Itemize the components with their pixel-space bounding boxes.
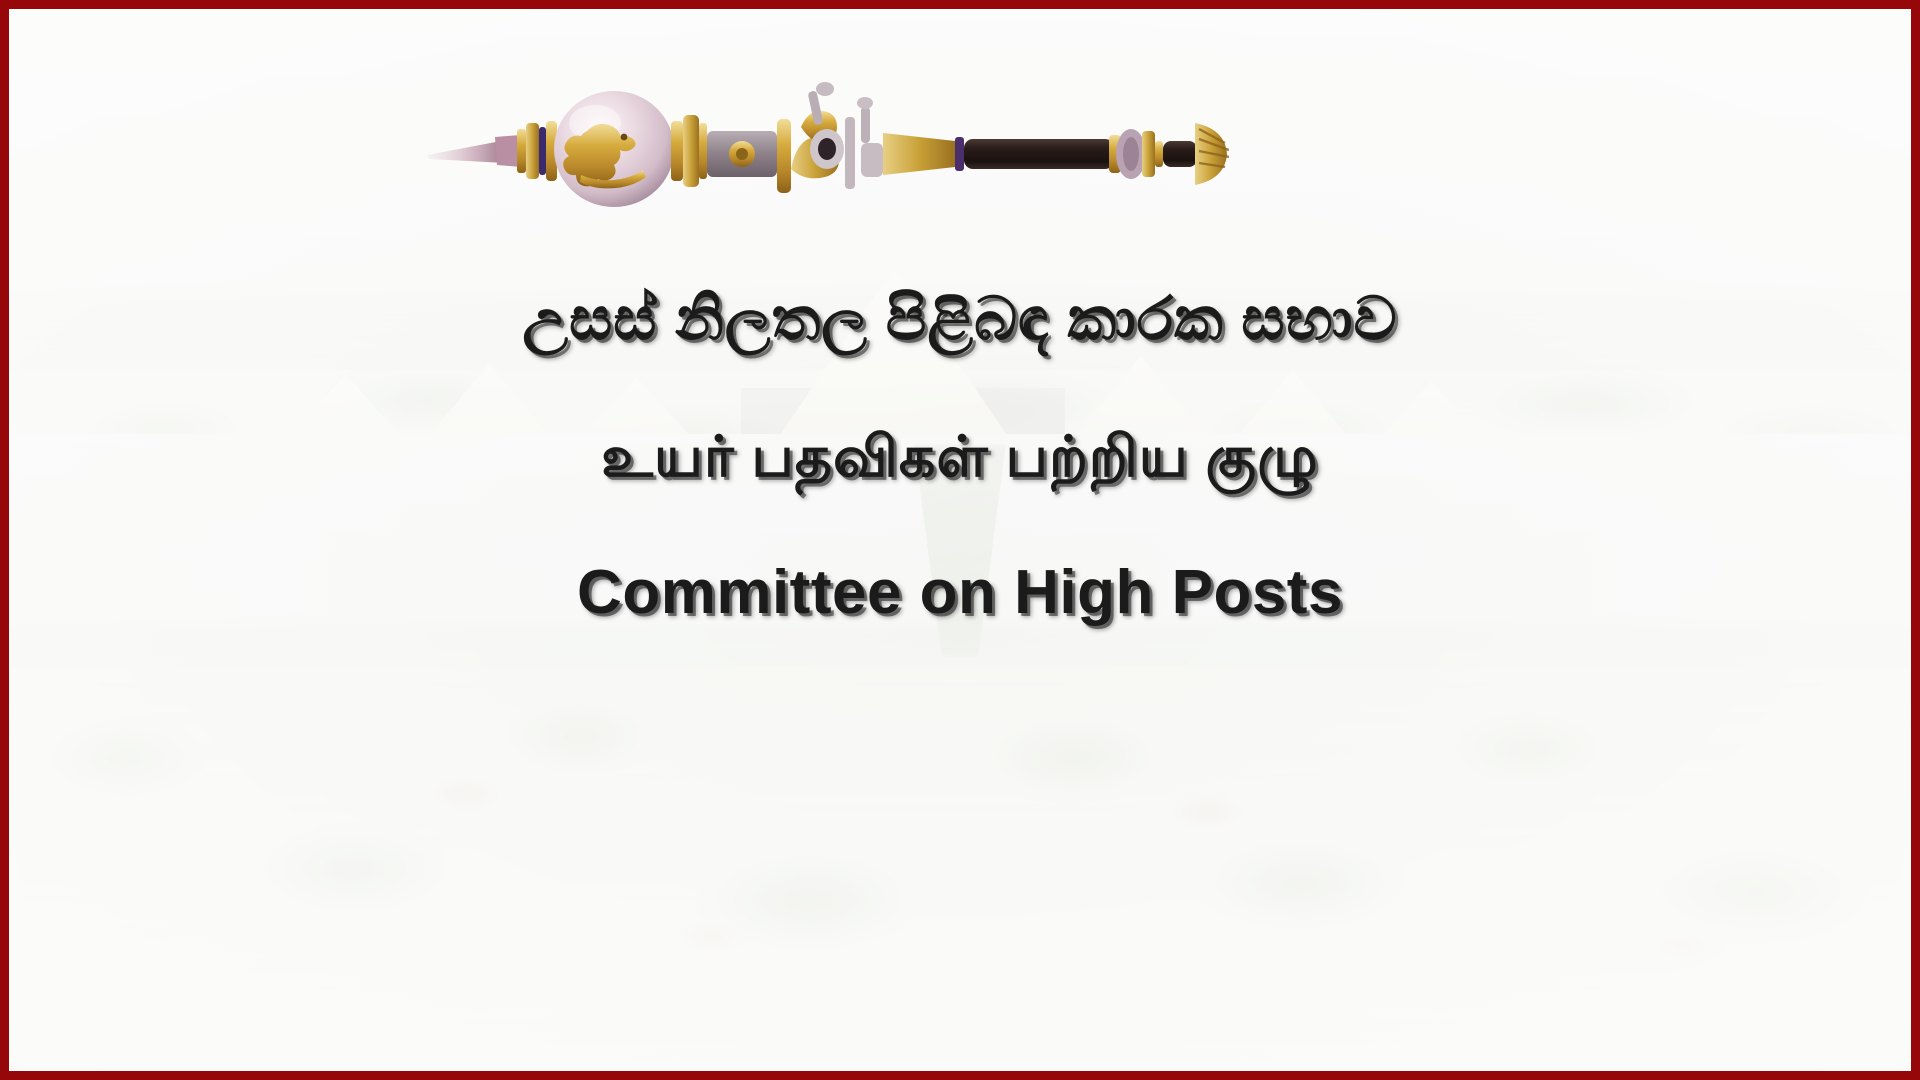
mace-fan-terminal — [1195, 123, 1229, 185]
parliament-mace-icon — [409, 57, 1229, 207]
mace-crown-ornament — [777, 82, 883, 193]
mace-finial-tip — [427, 141, 505, 163]
mace-shaft — [964, 139, 1114, 169]
page-banner: උසස් නිලතල පිළිබඳ කාරක සභාව உயர் பதவிகள்… — [0, 0, 1920, 1080]
mace-ferrule — [883, 133, 955, 175]
